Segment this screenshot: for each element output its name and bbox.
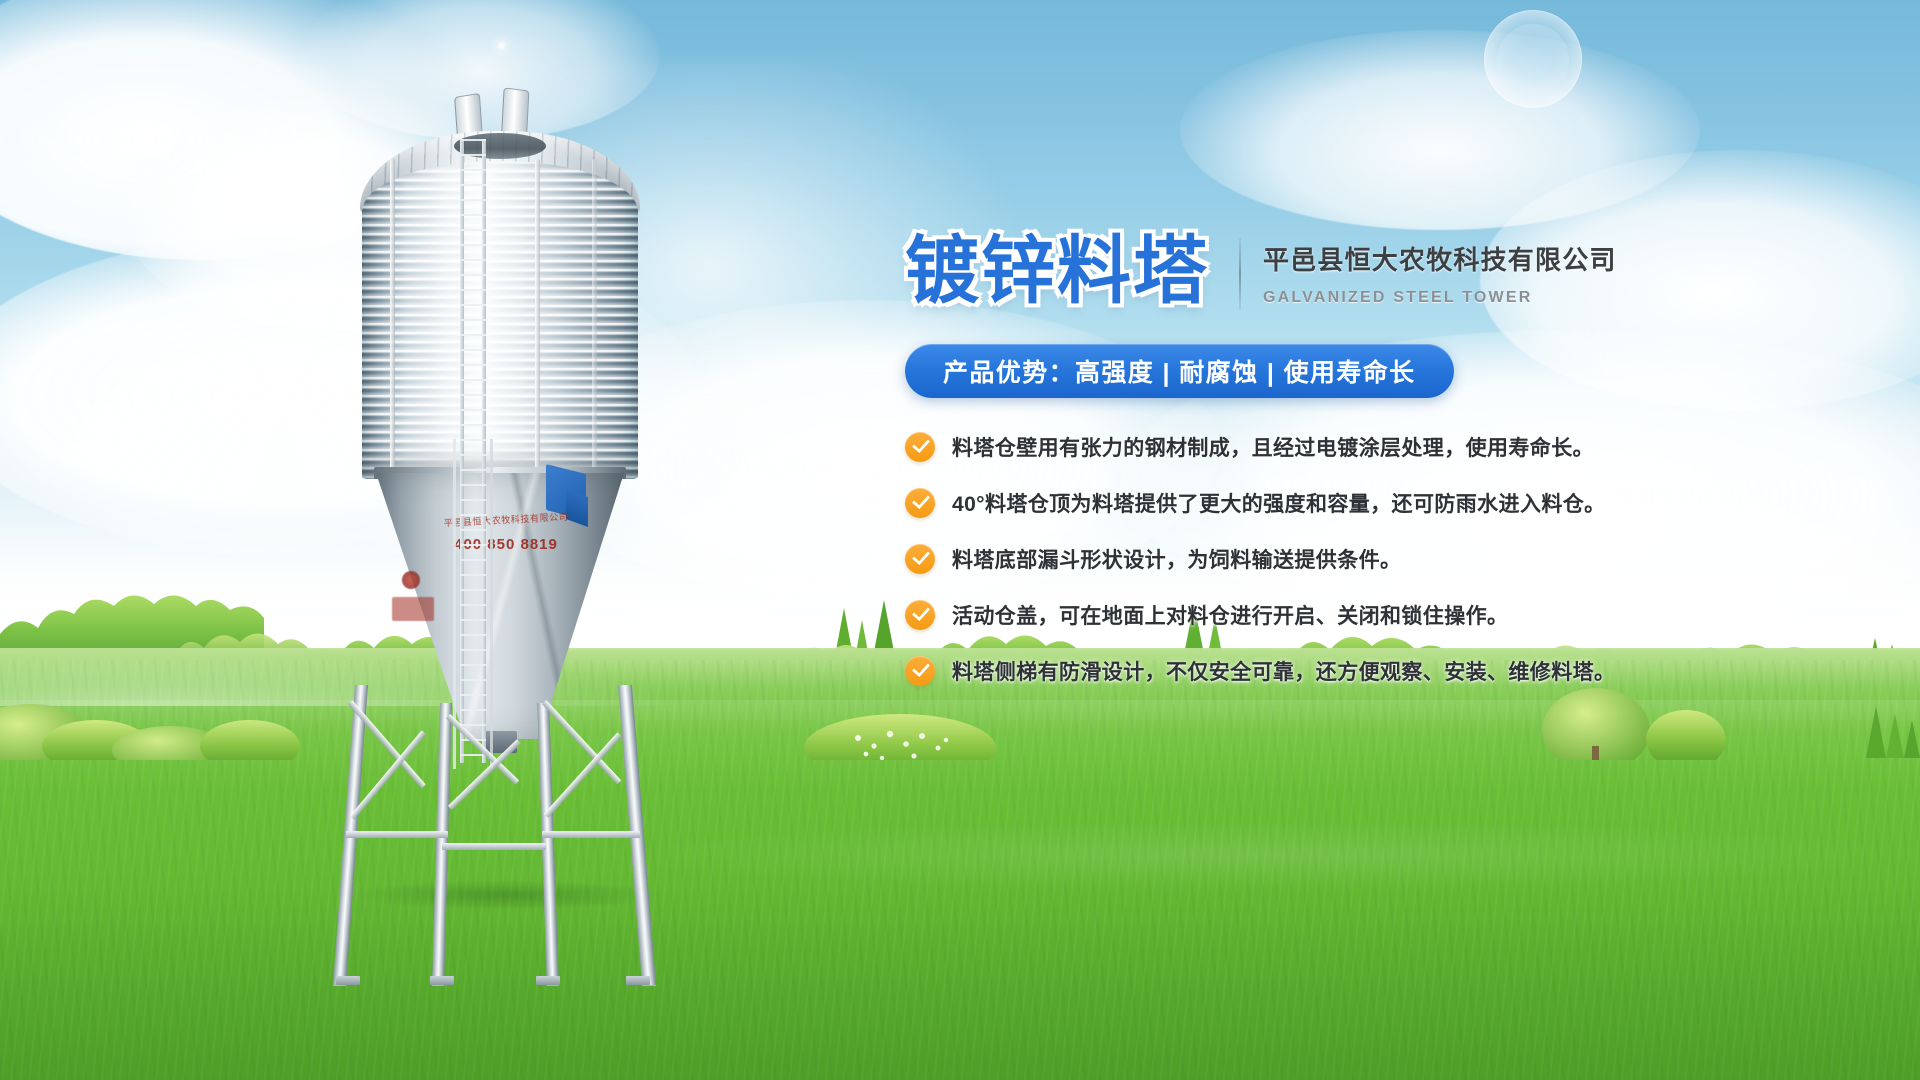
list-item: 料塔底部漏斗形状设计，为饲料输送提供条件。 xyxy=(905,544,1875,574)
galvanized-silo-image: 平邑县恒大农牧科技有限公司 400 850 8819 xyxy=(330,95,670,905)
list-item-label: 活动仓盖，可在地面上对料仓进行开启、关闭和锁住操作。 xyxy=(952,600,1508,630)
silo-horizontal-brace xyxy=(346,831,448,838)
list-item: 活动仓盖，可在地面上对料仓进行开启、关闭和锁住操作。 xyxy=(905,600,1875,630)
check-circle-icon xyxy=(905,544,935,574)
check-circle-icon xyxy=(905,656,935,686)
silo-support-legs xyxy=(330,655,670,985)
title-row: 镀锌料塔 平邑县恒大农牧科技有限公司 GALVANIZED STEEL TOWE… xyxy=(905,232,1875,310)
list-item-label: 料塔仓壁用有张力的钢材制成，且经过电镀涂层处理，使用寿命长。 xyxy=(952,432,1594,462)
list-item: 40°料塔仓顶为料塔提供了更大的强度和容量，还可防雨水进入料仓。 xyxy=(905,488,1875,518)
silo-vertical-seam xyxy=(390,159,395,481)
silo-vertical-seam xyxy=(535,159,540,481)
english-subtitle: GALVANIZED STEEL TOWER xyxy=(1263,289,1617,307)
grass-shadow xyxy=(0,880,1920,1080)
list-item: 料塔仓壁用有张力的钢材制成，且经过电镀涂层处理，使用寿命长。 xyxy=(905,432,1875,462)
list-item-label: 40°料塔仓顶为料塔提供了更大的强度和容量，还可防雨水进入料仓。 xyxy=(952,488,1606,518)
page-title: 镀锌料塔 xyxy=(905,232,1209,310)
silo-leg-foot xyxy=(336,976,360,985)
list-item: 料塔侧梯有防滑设计，不仅安全可靠，还方便观察、安装、维修料塔。 xyxy=(905,656,1875,686)
list-item-label: 料塔底部漏斗形状设计，为饲料输送提供条件。 xyxy=(952,544,1401,574)
title-divider xyxy=(1239,238,1241,310)
feature-list: 料塔仓壁用有张力的钢材制成，且经过电镀涂层处理，使用寿命长。 40°料塔仓顶为料… xyxy=(905,432,1875,686)
check-circle-icon xyxy=(905,488,935,518)
hero-banner: 平邑县恒大农牧科技有限公司 400 850 8819 xyxy=(0,0,1920,1080)
lens-flare-dot-icon xyxy=(498,42,505,49)
check-circle-icon xyxy=(905,600,935,630)
silo-leg-foot xyxy=(536,976,560,985)
company-name: 平邑县恒大农牧科技有限公司 xyxy=(1263,240,1617,277)
product-advantage-banner[interactable]: 产品优势：高强度 | 耐腐蚀 | 使用寿命长 xyxy=(905,344,1454,398)
check-circle-icon xyxy=(905,432,935,462)
list-item-label: 料塔侧梯有防滑设计，不仅安全可靠，还方便观察、安装、维修料塔。 xyxy=(952,656,1615,686)
brand-block: 平邑县恒大农牧科技有限公司 GALVANIZED STEEL TOWER xyxy=(1263,232,1617,307)
hopper-sticker xyxy=(392,597,434,621)
silo-leg-foot xyxy=(430,976,454,985)
hero-text-panel: 镀锌料塔 平邑县恒大农牧科技有限公司 GALVANIZED STEEL TOWE… xyxy=(905,232,1875,712)
lens-flare-ring-icon xyxy=(1497,24,1569,96)
silo-horizontal-brace xyxy=(442,843,546,850)
silo-leg-foot xyxy=(626,976,650,985)
silo-vertical-seam xyxy=(592,159,597,481)
silo-horizontal-brace xyxy=(542,831,640,838)
hopper-logo-mark xyxy=(402,571,420,589)
